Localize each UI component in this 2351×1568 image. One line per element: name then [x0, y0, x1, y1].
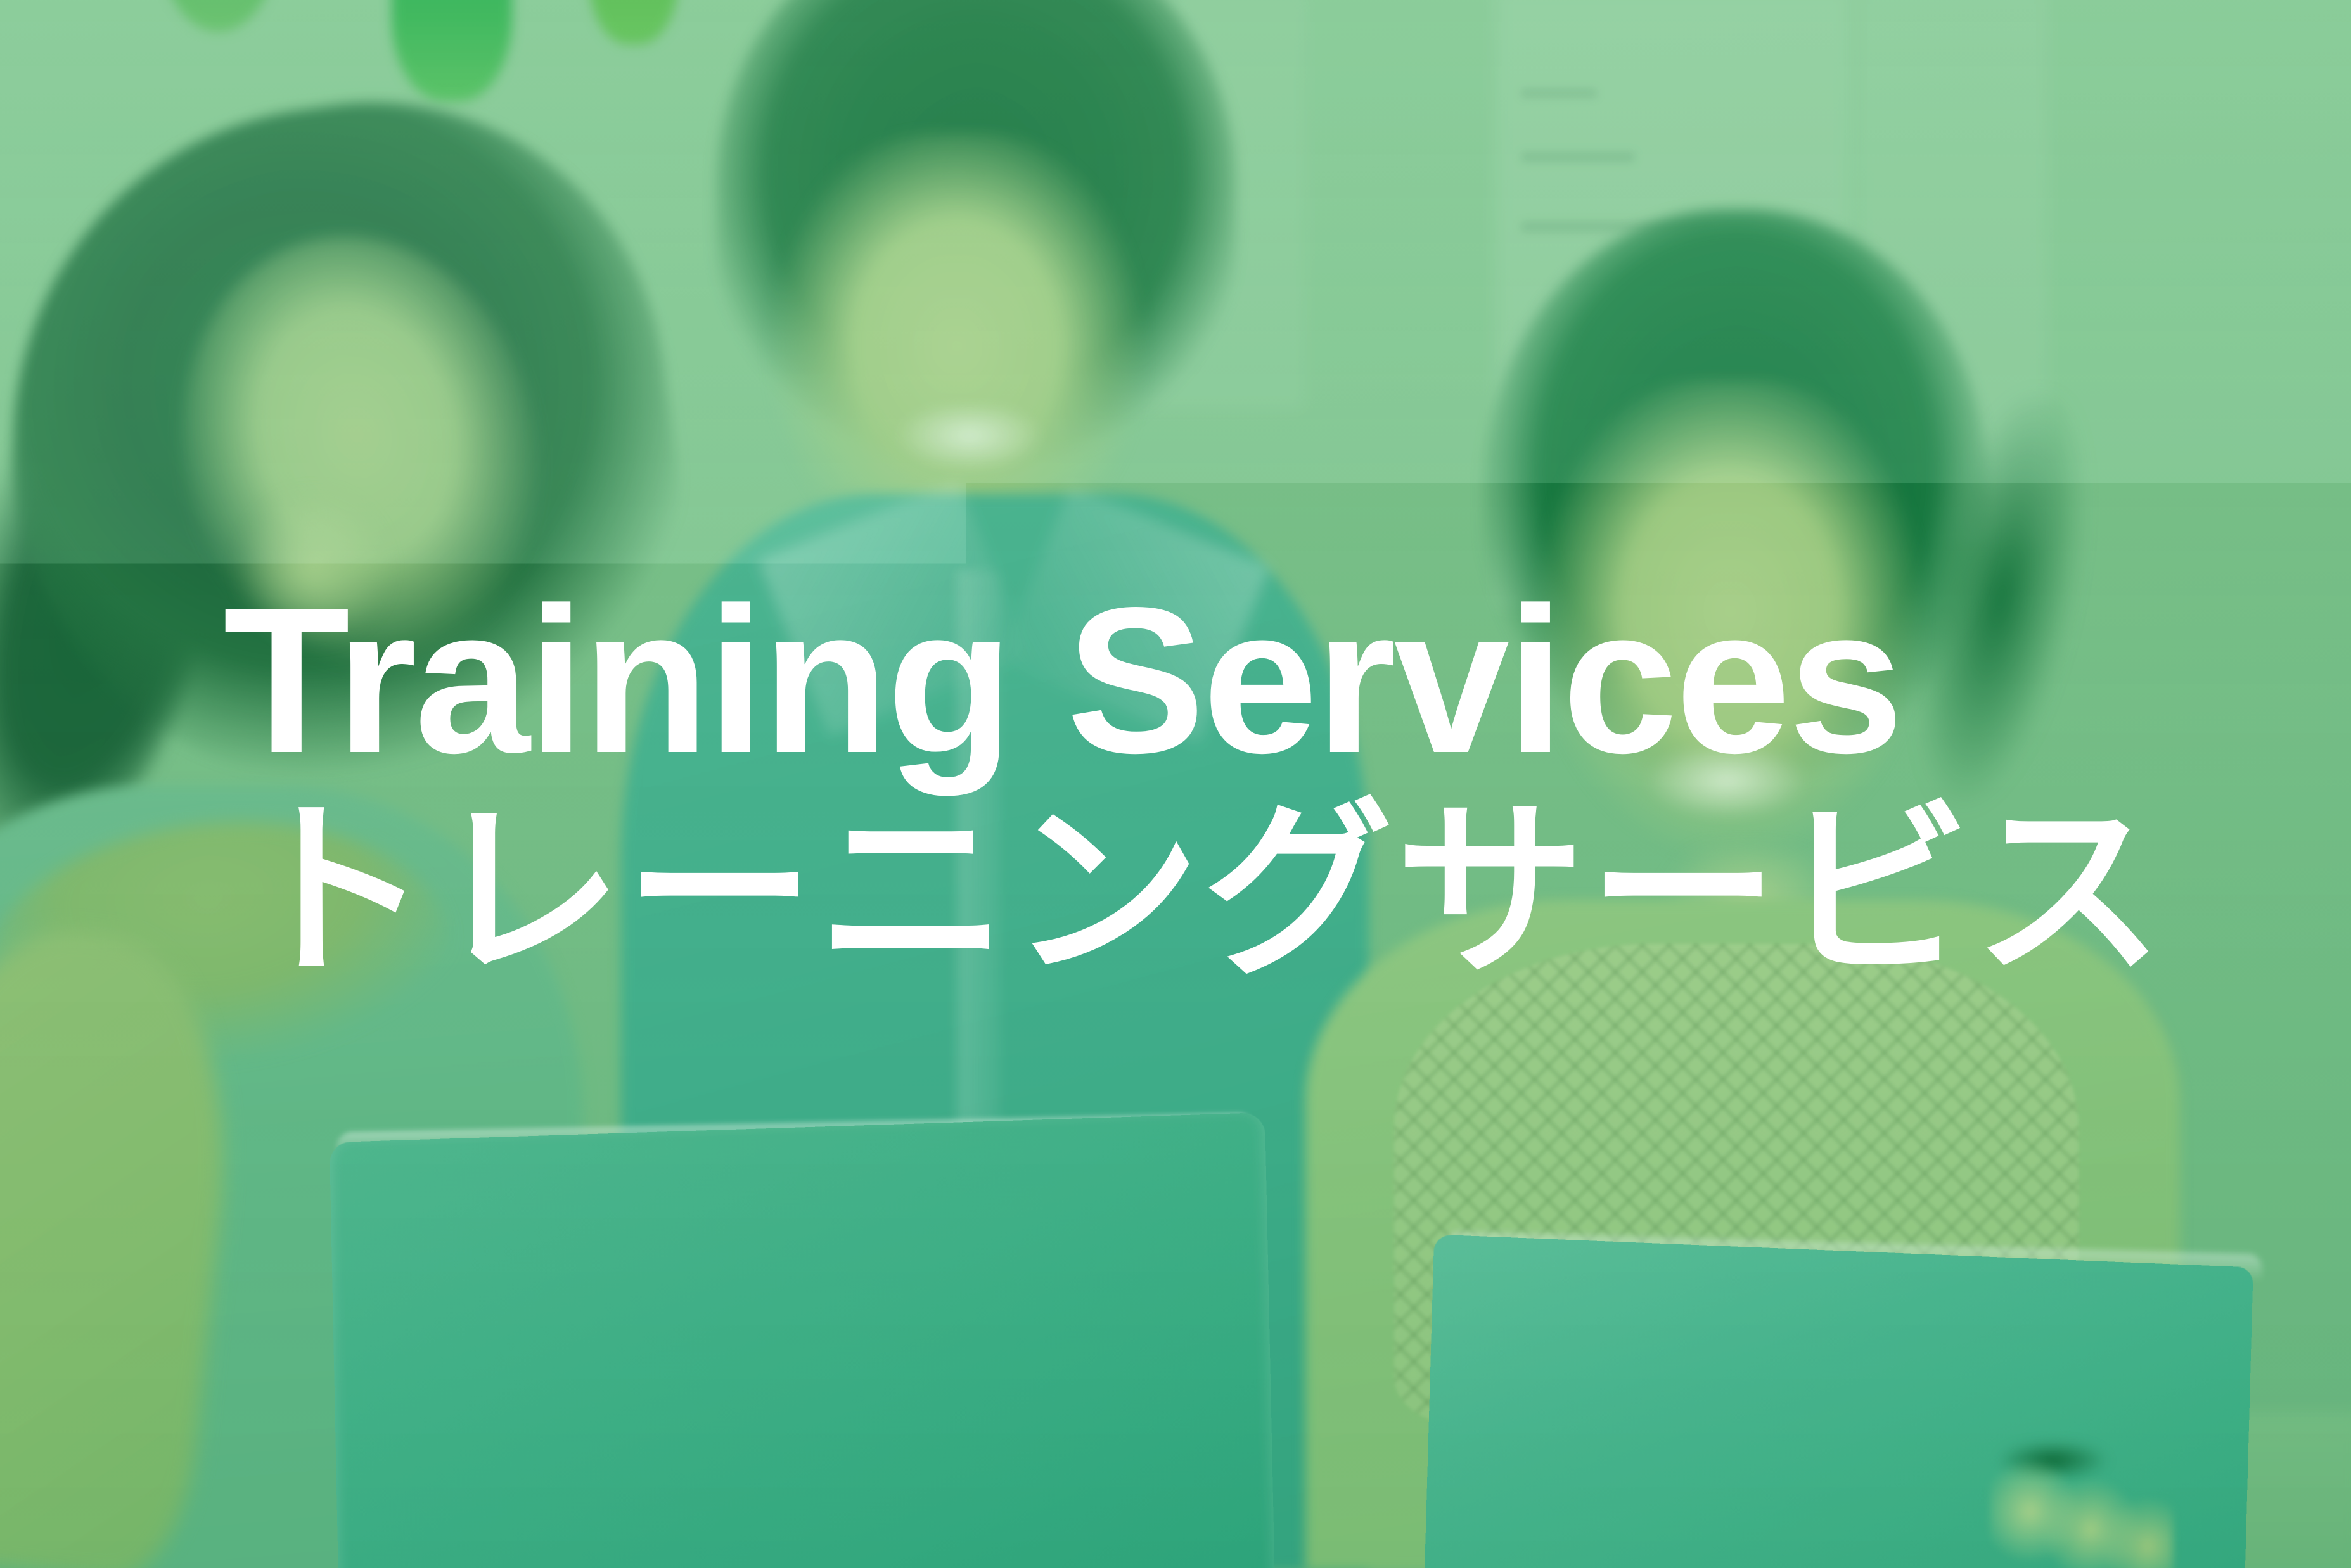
hero-text-overlay: Training Services トレーニングサービス	[0, 0, 2351, 1568]
training-services-hero-banner: Training Services トレーニングサービス	[0, 0, 2351, 1568]
hero-headline-english: Training Services	[223, 577, 2351, 784]
hero-headline-japanese: トレーニングサービス	[240, 792, 2351, 991]
